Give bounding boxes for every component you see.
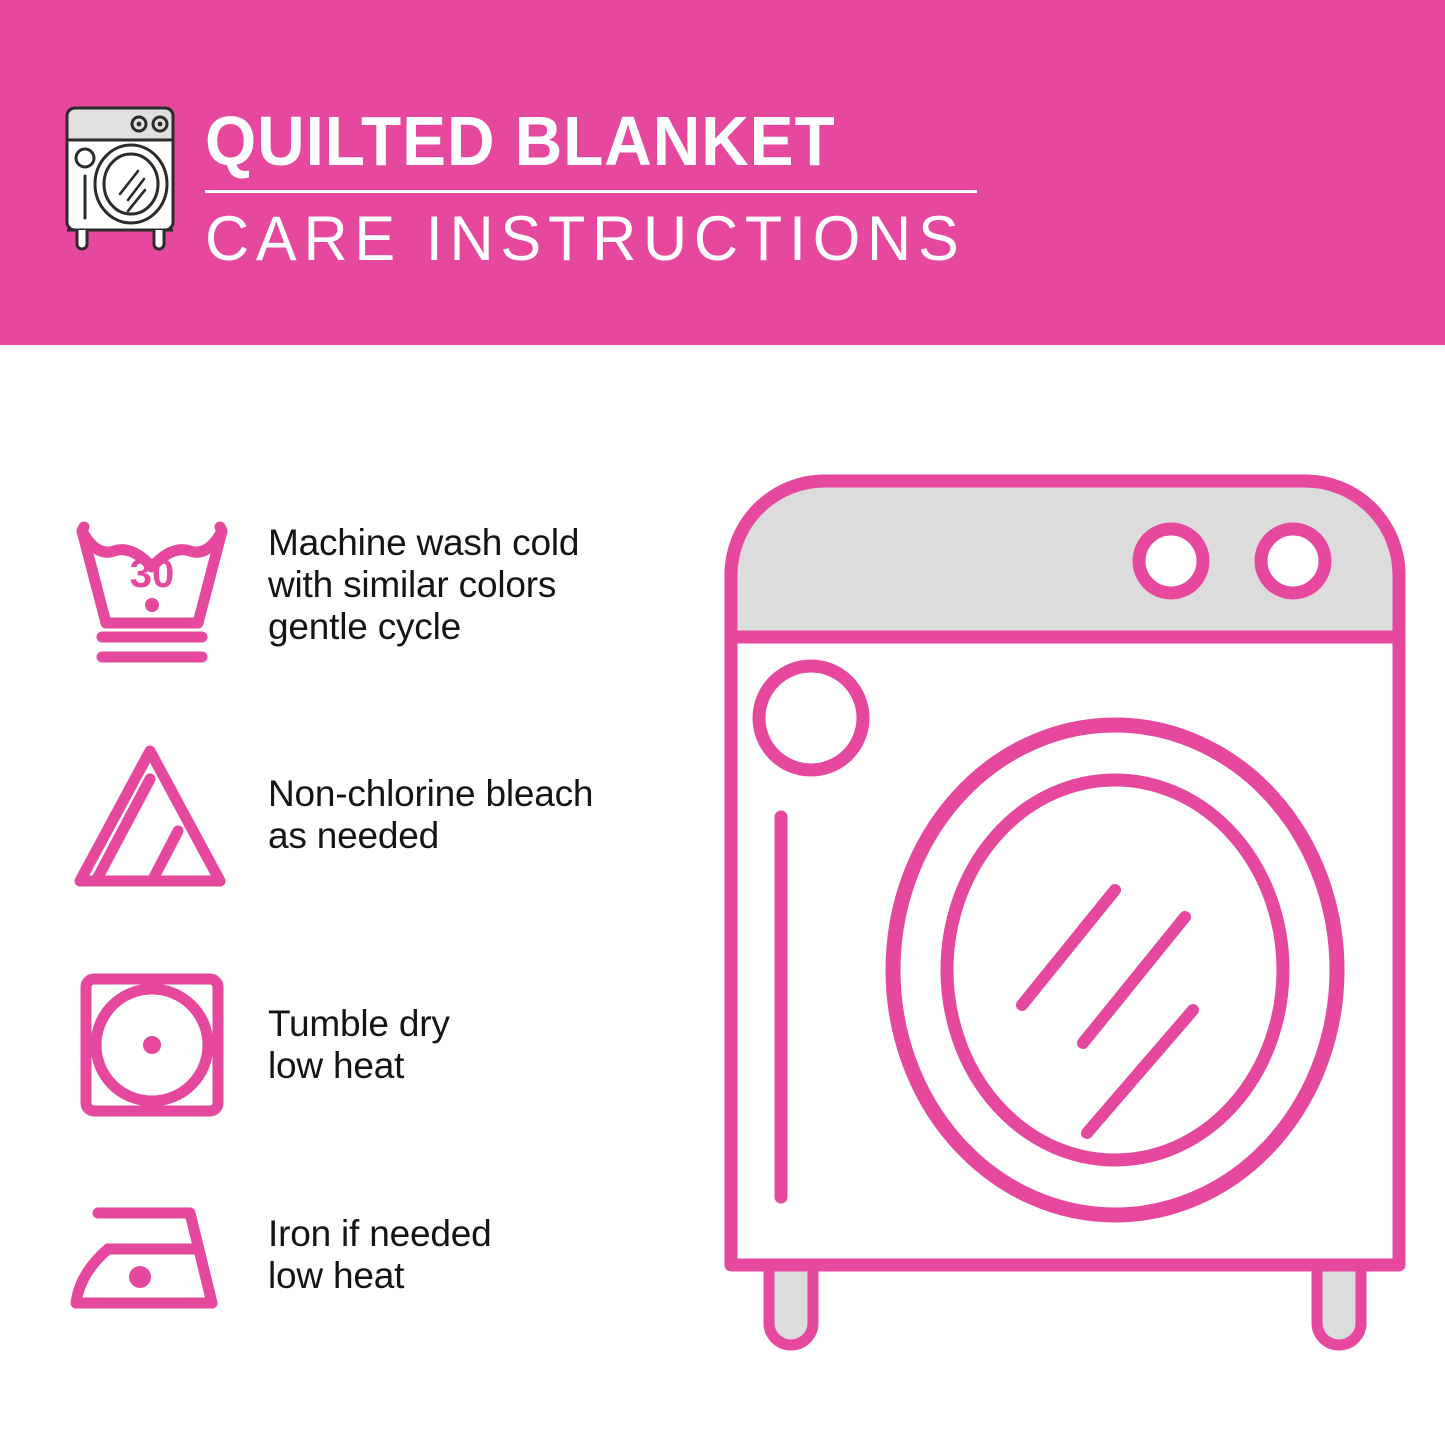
care-instructions-page: QUILTED BLANKET CARE INSTRUCTIONS 30 [0,0,1445,1445]
iron-low-heat-icon [62,1173,242,1338]
header-text-block: QUILTED BLANKET CARE INSTRUCTIONS [205,104,1005,273]
leg-right [1317,1265,1361,1345]
care-label-line: Non-chlorine bleach [268,773,593,815]
care-label-line: with similar colors [268,564,579,606]
care-label-machine-wash: Machine wash cold with similar colors ge… [268,522,579,648]
care-label-line: Iron if needed [268,1213,491,1255]
page-title: QUILTED BLANKET [205,104,957,178]
care-label-iron: Iron if needed low heat [268,1213,491,1297]
detergent-circle [759,666,863,770]
knob-right [1261,529,1325,593]
care-label-tumble-dry: Tumble dry low heat [268,1003,450,1087]
care-row-machine-wash: 30 Machine wash cold with similar colors… [0,485,700,685]
care-label-line: gentle cycle [268,606,579,648]
care-label-bleach: Non-chlorine bleach as needed [268,773,593,857]
page-subtitle: CARE INSTRUCTIONS [205,205,981,273]
header-banner: QUILTED BLANKET CARE INSTRUCTIONS [0,0,1445,345]
care-label-line: Machine wash cold [268,522,579,564]
care-label-line: as needed [268,815,593,857]
non-chlorine-bleach-triangle-icon [62,733,242,898]
care-instruction-list: 30 Machine wash cold with similar colors… [0,345,700,1445]
care-row-bleach: Non-chlorine bleach as needed [0,715,700,915]
care-label-line: Tumble dry [268,1003,450,1045]
care-row-iron: Iron if needed low heat [0,1155,700,1355]
care-row-tumble-dry: Tumble dry low heat [0,945,700,1145]
tumble-dry-low-icon [62,963,242,1128]
washing-machine-icon [58,102,188,252]
knob-left [1139,529,1203,593]
care-label-line: low heat [268,1045,450,1087]
wash-tub-30-gentle-icon: 30 [62,503,242,668]
wash-temp-value: 30 [130,552,175,596]
care-label-line: low heat [268,1255,491,1297]
title-divider [205,190,977,193]
leg-left [769,1265,813,1345]
washing-machine-illustration [715,465,1415,1375]
